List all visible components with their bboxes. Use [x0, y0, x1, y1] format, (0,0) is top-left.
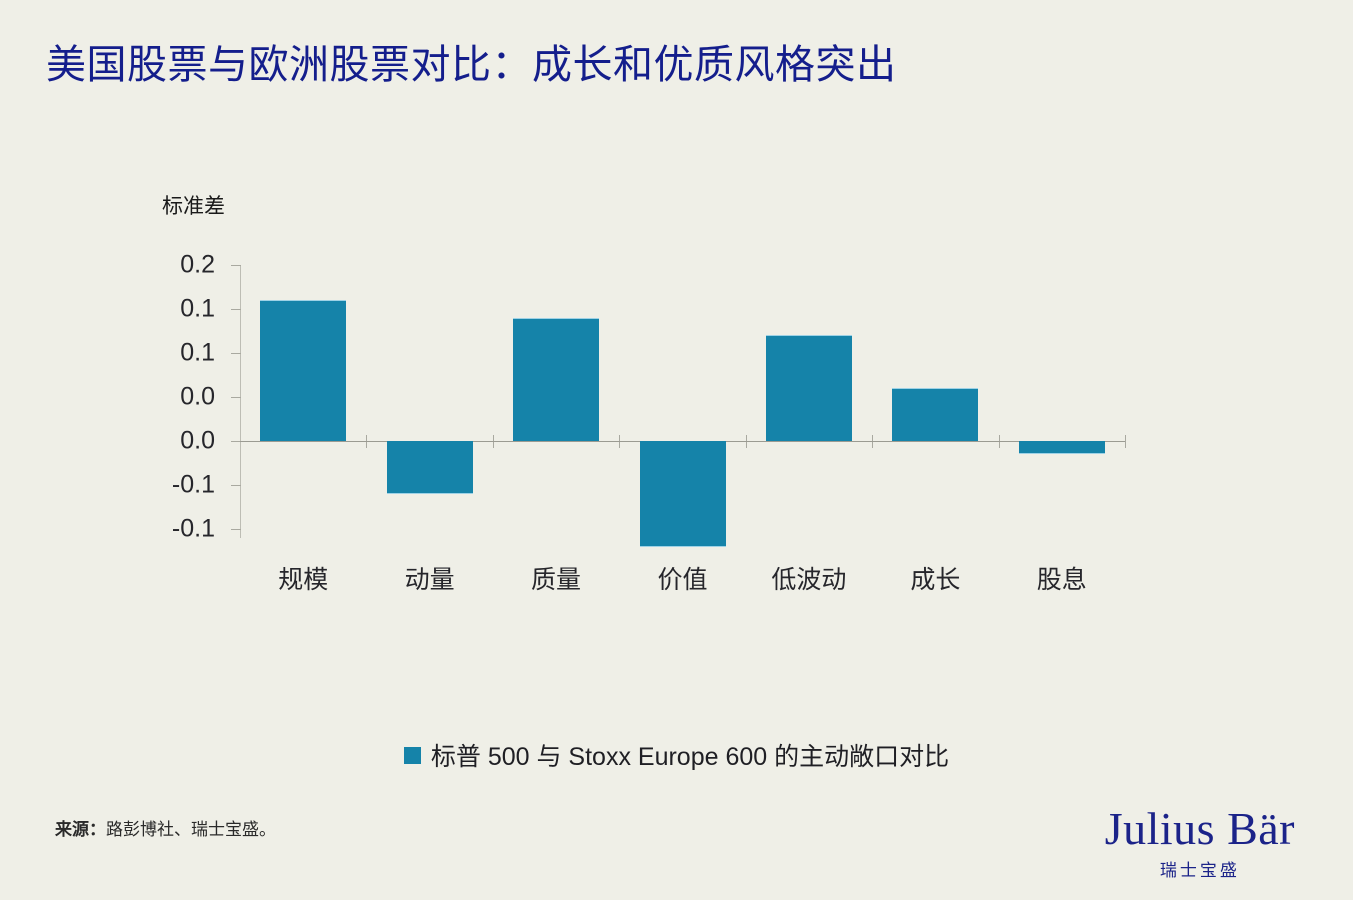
x-axis-label: 动量 [405, 560, 455, 596]
legend-swatch-icon [404, 747, 421, 764]
x-axis-label: 低波动 [771, 560, 846, 596]
slide-canvas: 美国股票与欧洲股票对比：成长和优质风格突出 标准差 0.20.10.10.0-0… [0, 0, 1353, 900]
y-axis-title: 标准差 [162, 190, 225, 220]
y-axis-tick-label: 0.1 [135, 339, 215, 368]
y-axis-tick-label: -0.1 [135, 471, 215, 500]
plot-area: 0.20.10.10.0-0.1-0.10.0 规模动量质量价值低波动成长股息 [240, 265, 1125, 538]
x-axis-tick [1125, 435, 1126, 448]
y-axis-tick-label: 0.0 [135, 383, 215, 412]
bar [892, 388, 978, 441]
y-axis-tick-label: 0.1 [135, 295, 215, 324]
logo-subtitle: 瑞士宝盛 [1105, 856, 1295, 881]
x-axis-label: 成长 [910, 560, 960, 596]
y-axis-tick-label: 0.2 [135, 251, 215, 280]
x-axis-label: 价值 [657, 560, 707, 596]
x-axis-label: 规模 [278, 560, 328, 596]
bar [387, 441, 473, 494]
legend-label: 标普 500 与 Stoxx Europe 600 的主动敞口对比 [431, 737, 949, 773]
y-axis-tick-label: 0.0 [135, 427, 215, 456]
source-prefix: 来源： [55, 820, 106, 839]
page-title: 美国股票与欧洲股票对比：成长和优质风格突出 [46, 38, 897, 92]
logo-wordmark: Julius Bär [1105, 805, 1295, 853]
source-note: 来源：路彭博社、瑞士宝盛。 [55, 815, 276, 840]
bar [766, 335, 852, 441]
x-axis-label: 股息 [1037, 560, 1087, 596]
x-axis-label: 质量 [531, 560, 581, 596]
bar [640, 441, 726, 547]
bar [1019, 441, 1105, 454]
bar-series [240, 265, 1125, 538]
chart-legend: 标普 500 与 Stoxx Europe 600 的主动敞口对比 [0, 737, 1353, 773]
bar [260, 300, 346, 441]
source-text: 路彭博社、瑞士宝盛。 [106, 820, 276, 839]
y-axis-tick-label: -0.1 [135, 515, 215, 544]
bar-chart: 标准差 0.20.10.10.0-0.1-0.10.0 规模动量质量价值低波动成… [150, 190, 1160, 590]
bar [513, 318, 599, 441]
brand-logo: Julius Bär 瑞士宝盛 [1105, 805, 1295, 881]
